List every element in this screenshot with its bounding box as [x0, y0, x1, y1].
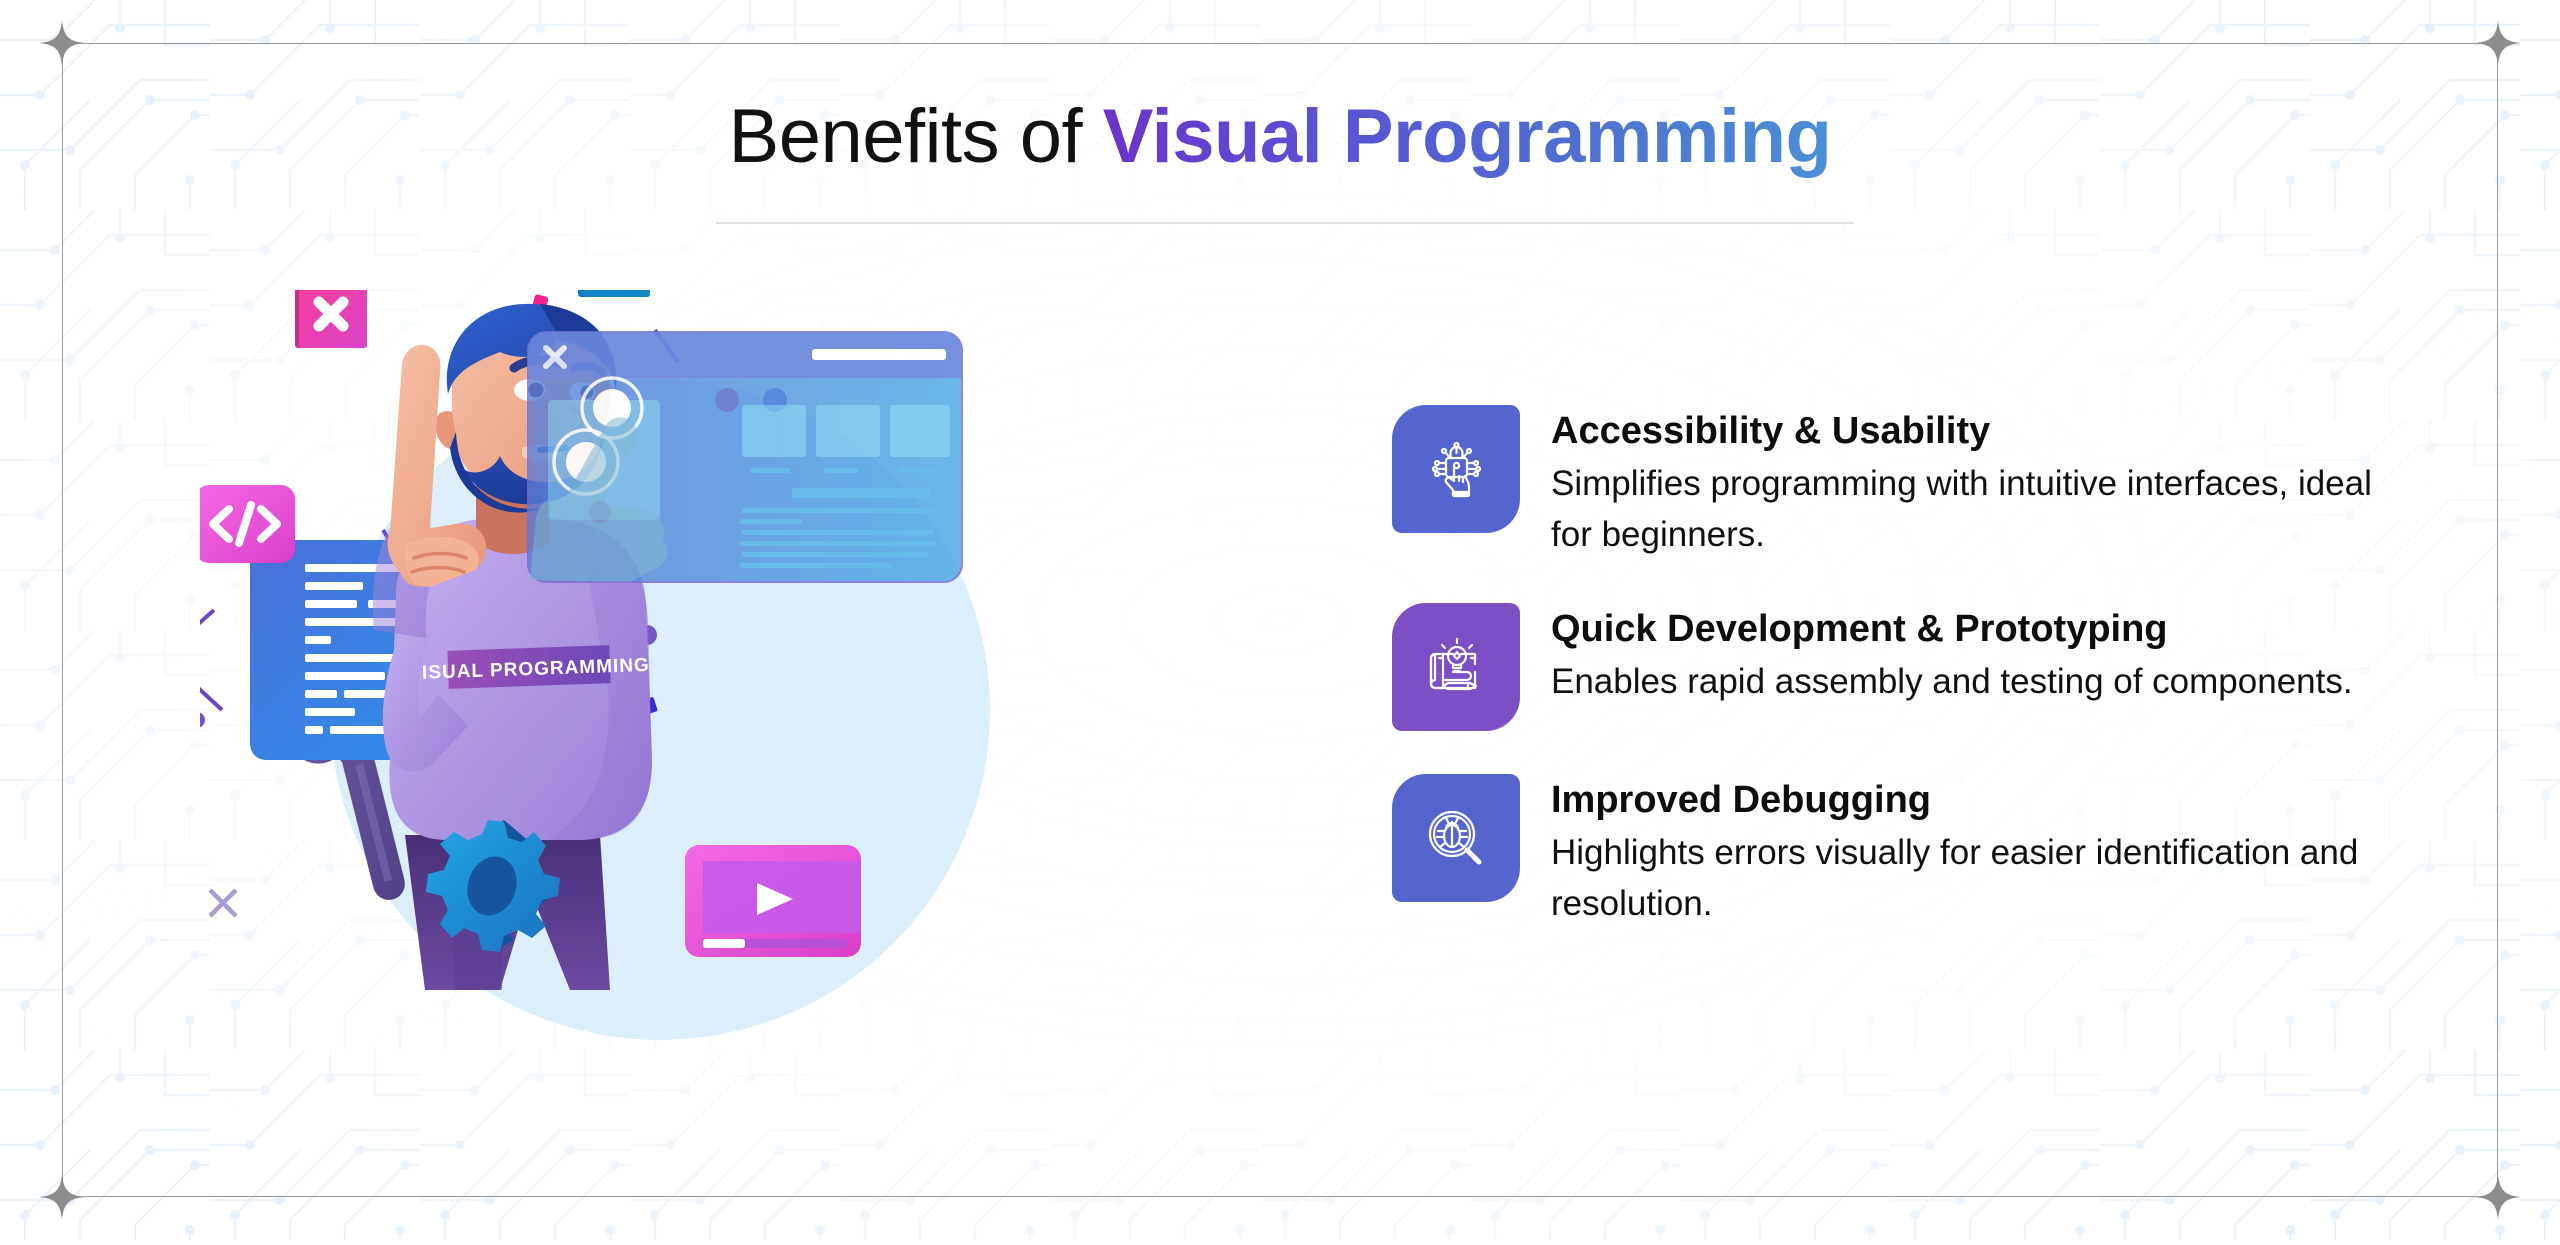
benefit-heading: Accessibility & Usability	[1551, 409, 2412, 454]
benefit-heading: Improved Debugging	[1551, 778, 2412, 823]
benefit-icon-tile	[1392, 774, 1520, 902]
benefit-body: Highlights errors visually for easier id…	[1551, 827, 2412, 929]
visual-programming-developer-illustration: [ ] [ ]	[200, 290, 1320, 1150]
code-badge	[200, 485, 295, 563]
benefit-heading: Quick Development & Prototyping	[1551, 607, 2353, 652]
video-progress-bar	[703, 939, 745, 948]
page-title-plain: Benefits of	[729, 94, 1103, 179]
benefits-list: Accessibility & Usability Simplifies pro…	[1392, 405, 2412, 929]
benefit-item-prototyping[interactable]: Quick Development & Prototyping Enables …	[1392, 603, 2412, 731]
benefit-item-debugging[interactable]: Improved Debugging Highlights errors vis…	[1392, 774, 2412, 929]
browser-window-mockup	[528, 332, 962, 582]
benefit-item-accessibility[interactable]: Accessibility & Usability Simplifies pro…	[1392, 405, 2412, 560]
page-title-accent: Visual Programming	[1103, 94, 1832, 179]
x-mark-decoration	[210, 890, 236, 916]
benefit-body: Simplifies programming with intuitive in…	[1551, 458, 2412, 560]
benefit-icon-tile	[1392, 603, 1520, 731]
close-badge	[295, 290, 367, 348]
page-title: Benefits of Visual Programming	[0, 95, 2560, 179]
circuit-lock-touch-icon	[1421, 434, 1491, 504]
title-divider	[716, 222, 1854, 224]
bug-magnifier-icon	[1421, 803, 1491, 873]
video-player-mockup	[685, 845, 861, 957]
sparkle-icon	[2475, 1174, 2521, 1220]
sparkle-icon	[39, 1174, 85, 1220]
benefit-body: Enables rapid assembly and testing of co…	[1551, 656, 2353, 707]
brackets-badge-top: [ ]	[578, 290, 650, 297]
window-search-bar	[812, 349, 946, 360]
sparkle-icon	[39, 20, 85, 66]
sparkle-icon	[2475, 20, 2521, 66]
lightbulb-notebook-pencil-icon	[1421, 632, 1491, 702]
benefit-icon-tile	[1392, 405, 1520, 533]
